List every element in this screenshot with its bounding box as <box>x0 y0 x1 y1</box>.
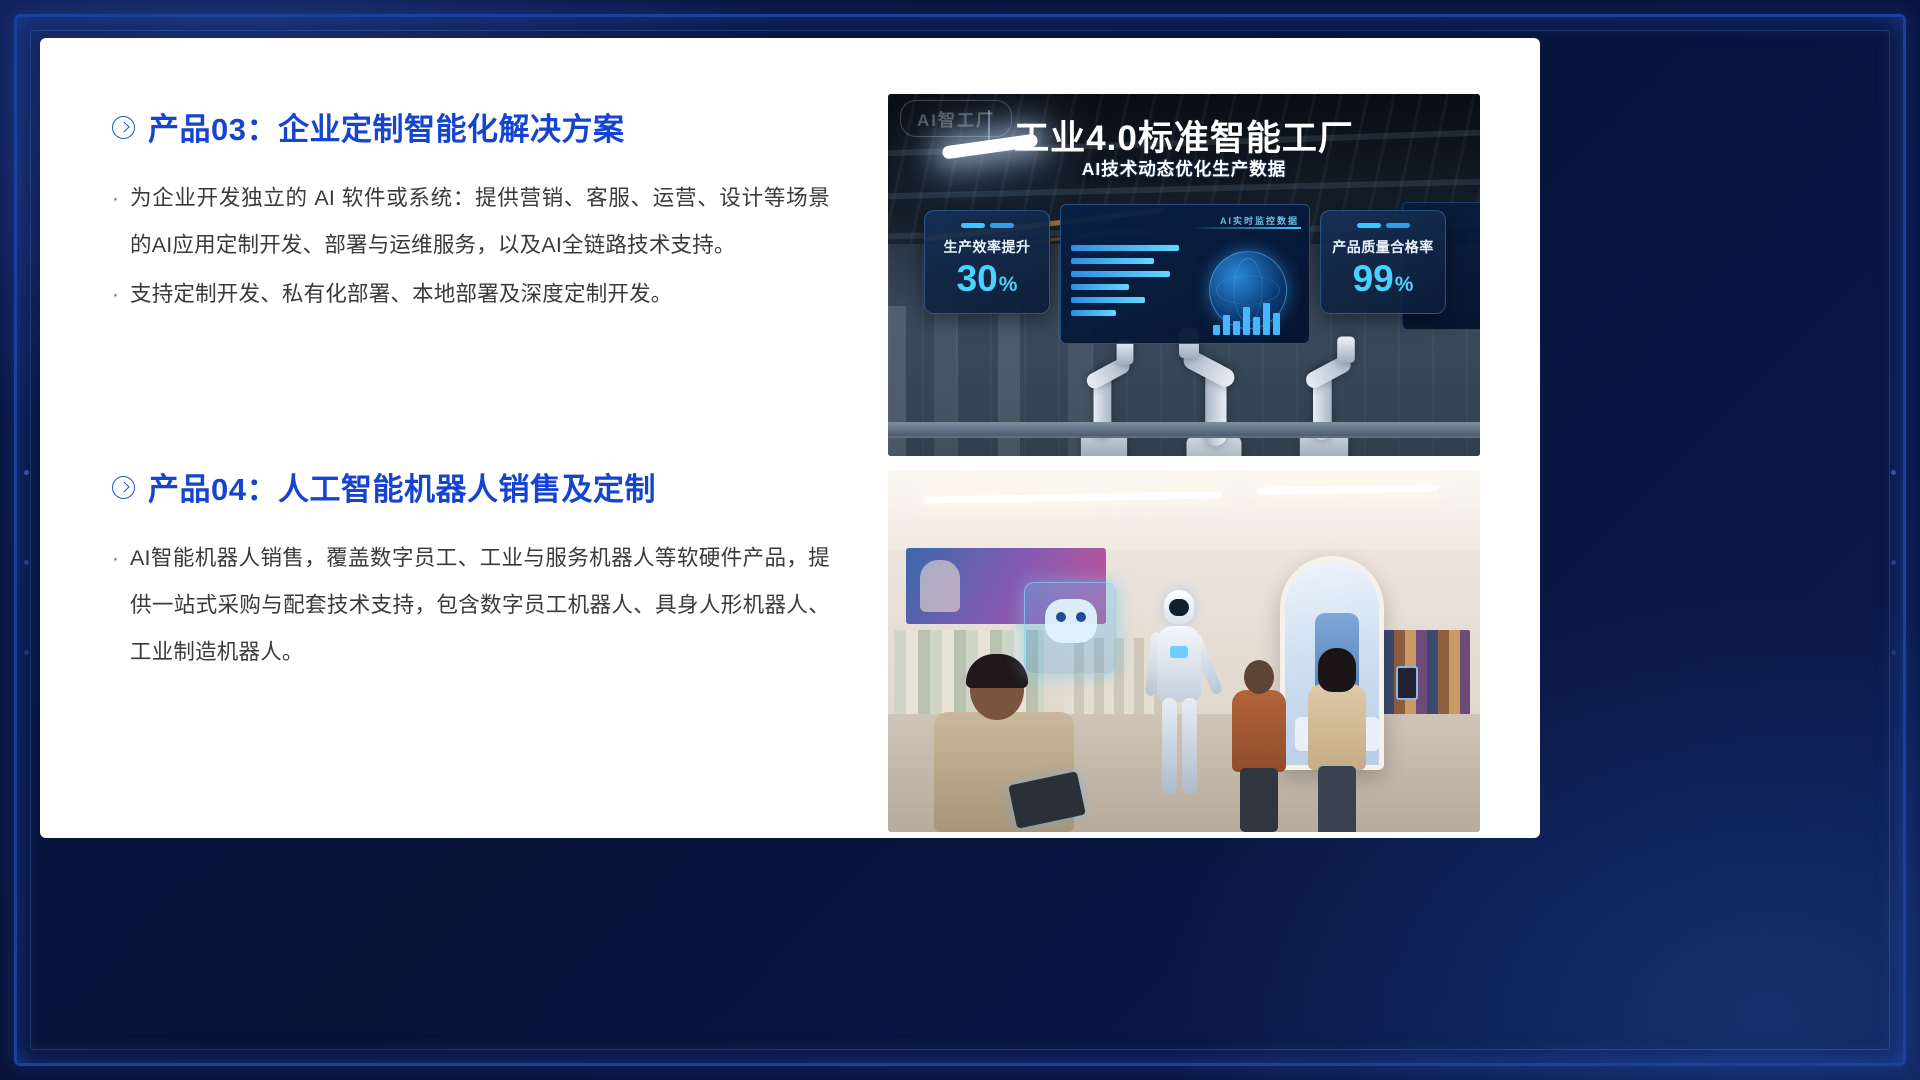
section-product-04: 产品04：人工智能机器人销售及定制 · AI智能机器人销售，覆盖数字员工、工业与… <box>112 464 830 676</box>
decorative-dot <box>1891 470 1896 475</box>
person-legs <box>1318 766 1356 832</box>
stat-number: 30 <box>957 258 998 299</box>
dashboard-bar <box>1071 245 1179 251</box>
accent-bar <box>1386 223 1410 228</box>
decorative-dot <box>24 470 29 475</box>
mini-bar <box>1243 307 1250 335</box>
humanoid-robot <box>1146 590 1212 800</box>
stat-card-quality: 产品质量合格率 99% <box>1320 210 1446 314</box>
showroom-ceiling <box>888 470 1480 550</box>
bullet-mark: · <box>112 271 130 318</box>
dashboard-mini-chart <box>1213 301 1299 335</box>
list-item: · AI智能机器人销售，覆盖数字员工、工业与服务机器人等软硬件产品，提供一站式采… <box>112 535 830 676</box>
chevron-circle-icon <box>112 476 135 499</box>
bullet-list: · 为企业开发独立的 AI 软件或系统：提供营销、客服、运营、设计等场景的AI应… <box>112 175 830 318</box>
customer-woman <box>1300 652 1376 832</box>
bullet-text: 支持定制开发、私有化部署、本地部署及深度定制开发。 <box>130 271 830 318</box>
list-item: · 为企业开发独立的 AI 软件或系统：提供营销、客服、运营、设计等场景的AI应… <box>112 175 830 269</box>
bullet-list: · AI智能机器人销售，覆盖数字员工、工业与服务机器人等软硬件产品，提供一站式采… <box>112 535 830 676</box>
stat-accent-bars <box>1357 223 1410 228</box>
dashboard-underline <box>1191 227 1301 229</box>
presentation-slide: 产品03：企业定制智能化解决方案 · 为企业开发独立的 AI 软件或系统：提供营… <box>0 0 1920 1080</box>
robot-showroom-photo <box>888 470 1480 832</box>
person-body <box>1232 690 1286 772</box>
ceiling-beam <box>888 179 1480 199</box>
bullet-mark: · <box>112 535 130 582</box>
stat-value: 30% <box>957 260 1018 297</box>
text-column: 产品03：企业定制智能化解决方案 · 为企业开发独立的 AI 软件或系统：提供营… <box>40 38 870 838</box>
section-heading: 产品03：企业定制智能化解决方案 <box>112 104 830 149</box>
seated-man-with-tablet <box>906 660 1096 832</box>
mini-bar <box>1233 321 1240 335</box>
robot-face-visor <box>1169 599 1189 616</box>
factory-headline: 工业4.0标准智能工厂 <box>888 110 1480 161</box>
stat-number: 99 <box>1353 258 1394 299</box>
content-card: 产品03：企业定制智能化解决方案 · 为企业开发独立的 AI 软件或系统：提供营… <box>40 38 1540 838</box>
conveyor-belt <box>888 422 1480 438</box>
customer-man <box>1224 660 1294 830</box>
stat-unit: % <box>1395 273 1414 296</box>
robot-torso <box>1157 626 1201 702</box>
bullet-text: AI智能机器人销售，覆盖数字员工、工业与服务机器人等软硬件产品，提供一站式采购与… <box>130 535 830 676</box>
dashboard-bar <box>1071 258 1154 264</box>
bullet-mark: · <box>112 175 130 222</box>
stat-value: 99% <box>1353 260 1414 297</box>
stat-accent-bars <box>961 223 1014 228</box>
dashboard-bar <box>1071 284 1129 290</box>
decorative-dot <box>1891 560 1896 565</box>
stat-unit: % <box>999 273 1018 296</box>
robot-chest-light <box>1170 646 1188 658</box>
mini-bar <box>1263 303 1270 335</box>
ai-dashboard-overlay: AI实时监控数据 <box>1060 204 1310 344</box>
factory-subheadline: AI技术动态优化生产数据 <box>888 156 1480 181</box>
section-heading: 产品04：人工智能机器人销售及定制 <box>112 464 830 509</box>
image-column: AI智工厂 AI实时监控数据 <box>870 38 1540 838</box>
robot-leg-left <box>1162 698 1177 794</box>
dashboard-bar <box>1071 271 1170 277</box>
person-body <box>1308 684 1366 770</box>
dashboard-bar-chart <box>1071 245 1183 323</box>
person-legs <box>1240 768 1278 832</box>
mini-bar <box>1253 317 1260 335</box>
stat-label: 生产效率提升 <box>944 237 1031 257</box>
mini-bar <box>1223 315 1230 335</box>
mini-bar <box>1213 325 1220 335</box>
list-item: · 支持定制开发、私有化部署、本地部署及深度定制开发。 <box>112 271 830 318</box>
smart-factory-photo: AI智工厂 AI实时监控数据 <box>888 94 1480 456</box>
robot-leg-right <box>1182 698 1197 794</box>
accent-bar <box>990 223 1014 228</box>
section-product-03: 产品03：企业定制智能化解决方案 · 为企业开发独立的 AI 软件或系统：提供营… <box>112 104 830 318</box>
person-hair <box>966 654 1028 688</box>
ai-assistant-hologram <box>1024 582 1116 674</box>
stat-card-efficiency: 生产效率提升 30% <box>924 210 1050 314</box>
person-hair <box>1318 648 1356 692</box>
section-title: 产品04：人工智能机器人销售及定制 <box>148 464 656 509</box>
decorative-dot <box>1891 650 1896 655</box>
accent-bar <box>961 223 985 228</box>
decorative-dot <box>24 650 29 655</box>
bullet-text: 为企业开发独立的 AI 软件或系统：提供营销、客服、运营、设计等场景的AI应用定… <box>130 175 830 269</box>
person-head <box>1244 660 1274 694</box>
dashboard-title: AI实时监控数据 <box>1220 214 1299 227</box>
dashboard-bar <box>1071 297 1145 303</box>
stat-label: 产品质量合格率 <box>1332 237 1434 257</box>
dashboard-bar <box>1071 310 1116 316</box>
section-title: 产品03：企业定制智能化解决方案 <box>148 104 624 149</box>
chevron-circle-icon <box>112 116 135 139</box>
hologram-robot-face <box>1045 599 1097 643</box>
kiosk-tablet <box>1396 666 1418 700</box>
decorative-dot <box>24 560 29 565</box>
robot-arm-gripper <box>1337 337 1355 363</box>
mini-bar <box>1273 313 1280 335</box>
accent-bar <box>1357 223 1381 228</box>
